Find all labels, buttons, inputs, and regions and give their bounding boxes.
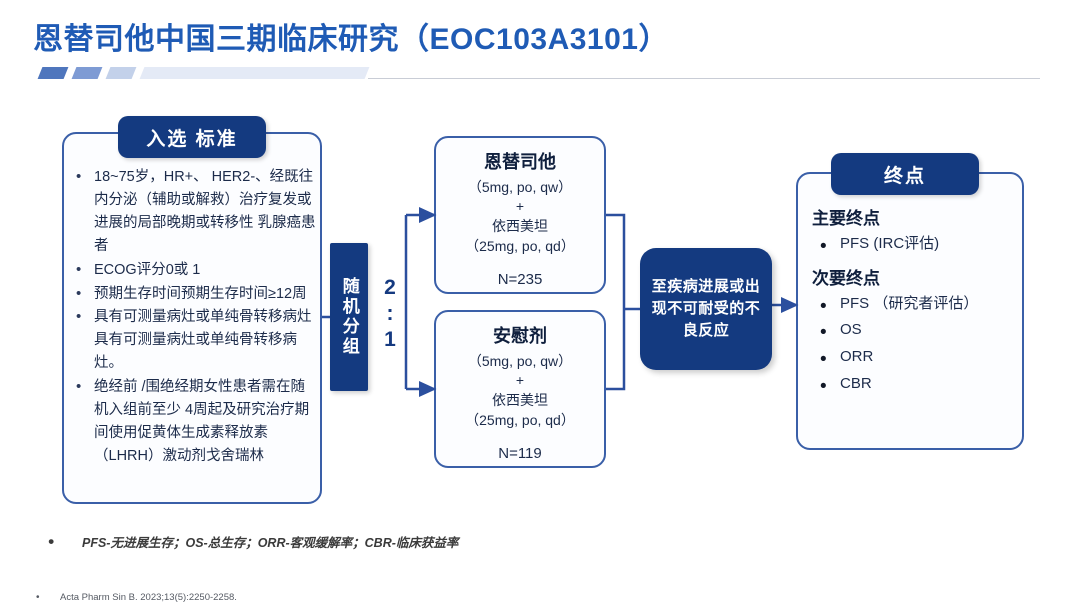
footnote-bullet-icon (48, 532, 82, 552)
placebo-arm-n: N=119 (436, 443, 604, 464)
list-item: 18~75岁，HR+、 HER2-、经既往内分泌（辅助或解救）治疗复发或进展的局… (68, 166, 318, 258)
placebo-arm-box: 安慰剂 （5mg, po, qw） + 依西美坦 （25mg, po, qd） … (434, 310, 606, 468)
list-item: ORR (812, 344, 1024, 371)
randomization-bar: 随机分组 (330, 243, 368, 391)
list-item: PFS （研究者评估） (812, 291, 1024, 318)
treatment-arm-drug2: 依西美坦 (436, 217, 604, 237)
citation-bullet-icon (36, 592, 60, 603)
endpoints-content: 主要终点 PFS (IRC评估) 次要终点 PFS （研究者评估） OS ORR… (812, 204, 1024, 403)
until-progression-text: 至疾病进展或出现不可耐受的不良反应 (640, 276, 772, 341)
decorative-block-3 (106, 67, 137, 79)
abbreviation-footnote: PFS-无进展生存；OS-总生存；ORR-客观缓解率；CBR-临床获益率 (48, 532, 458, 552)
list-item: CBR (812, 371, 1024, 398)
title-bar: 恩替司他中国三期临床研究（EOC103A3101） (0, 0, 1080, 90)
secondary-endpoint-heading: 次要终点 (812, 264, 1024, 289)
decorative-block-2 (72, 67, 103, 79)
primary-endpoint-heading: 主要终点 (812, 204, 1024, 229)
decorative-block-1 (38, 67, 69, 79)
randomization-ratio: 2 : 1 (377, 258, 403, 370)
list-item: PFS (IRC评估) (812, 231, 1024, 258)
primary-endpoint-list: PFS (IRC评估) (812, 231, 1024, 258)
randomization-label: 随机分组 (339, 277, 359, 357)
list-item: 绝经前 /围绝经期女性患者需在随机入组前至少 4周起及研究治疗期间使用促黄体生成… (68, 376, 318, 468)
citation: Acta Pharm Sin B. 2023;13(5):2250-2258. (36, 592, 237, 603)
list-item: ECOG评分0或 1 (68, 259, 318, 282)
until-progression-box: 至疾病进展或出现不可耐受的不良反应 (640, 248, 772, 370)
placebo-arm-plus: + (436, 371, 604, 391)
inclusion-criteria-list: 18~75岁，HR+、 HER2-、经既往内分泌（辅助或解救）治疗复发或进展的局… (68, 166, 318, 469)
secondary-endpoint-list: PFS （研究者评估） OS ORR CBR (812, 291, 1024, 398)
inclusion-criteria-header: 入选 标准 (118, 116, 266, 158)
placebo-arm-dose1: （5mg, po, qw） (436, 352, 604, 372)
citation-text: Acta Pharm Sin B. 2023;13(5):2250-2258. (60, 592, 237, 603)
list-item: 具有可测量病灶或单纯骨转移病灶具有可测量病灶或单纯骨转移病灶。 (68, 306, 318, 375)
placebo-arm-title: 安慰剂 (436, 324, 604, 350)
page-title: 恩替司他中国三期临床研究（EOC103A3101） (33, 14, 669, 58)
treatment-arm-dose1: （5mg, po, qw） (436, 178, 604, 198)
title-divider-rule (368, 78, 1040, 79)
list-item: 预期生存时间预期生存时间≥12周 (68, 283, 318, 306)
treatment-arm-n: N=235 (436, 269, 604, 290)
treatment-arm-title: 恩替司他 (436, 150, 604, 176)
footnote-text: PFS-无进展生存；OS-总生存；ORR-客观缓解率；CBR-临床获益率 (82, 536, 458, 550)
placebo-arm-content: 安慰剂 （5mg, po, qw） + 依西美坦 （25mg, po, qd） … (436, 324, 604, 464)
ratio-separator: : (387, 301, 394, 327)
ratio-denominator: 1 (384, 327, 396, 353)
placebo-arm-dose2: （25mg, po, qd） (436, 411, 604, 431)
ratio-numerator: 2 (384, 275, 396, 301)
placebo-arm-drug2: 依西美坦 (436, 391, 604, 411)
treatment-arm-box: 恩替司他 （5mg, po, qw） + 依西美坦 （25mg, po, qd）… (434, 136, 606, 294)
treatment-arm-content: 恩替司他 （5mg, po, qw） + 依西美坦 （25mg, po, qd）… (436, 150, 604, 290)
treatment-arm-dose2: （25mg, po, qd） (436, 237, 604, 257)
treatment-arm-plus: + (436, 197, 604, 217)
list-item: OS (812, 317, 1024, 344)
endpoints-header: 终点 (831, 153, 979, 195)
decorative-block-4 (140, 67, 370, 79)
